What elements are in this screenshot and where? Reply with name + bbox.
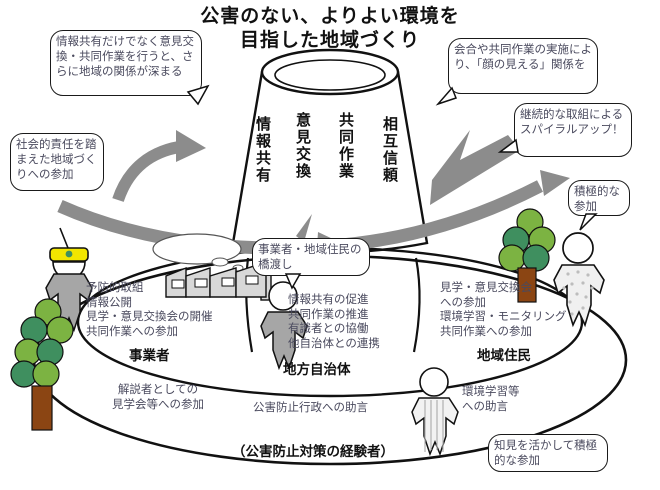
expert-person-icon [412, 368, 458, 454]
sector-business-item-1: 情報公開 [86, 295, 213, 310]
cone-label-information-sharing: 情報共有 [255, 116, 270, 184]
callout-active-participation: 積極的な参加 [568, 180, 630, 216]
sector-residents-item-1: への参加 [440, 295, 567, 310]
sector-residents-items: 見学・意見交換会 への参加 環境学習・モニタリング 共同作業への参加 [440, 280, 567, 339]
callout-social-responsibility: 社会的責任を踏まえた地域づくりへの参加 [10, 133, 104, 191]
expert-right-note-1: への助言 [462, 399, 520, 414]
sector-business-item-2: 見学・意見交換会の開催 [86, 309, 213, 324]
sector-residents-name: 地域住民 [477, 344, 531, 364]
sector-localgov-item-0: 情報共有の促進 [288, 292, 380, 307]
diagram-canvas: 公害のない、よりよい環境を 目指した地域づくり [0, 0, 660, 490]
callout-top-right: 会合や共同作業の実施により、「顔の見える」関係を [448, 38, 598, 94]
expert-right-note-0: 環境学習等 [462, 384, 520, 399]
tree-icon [11, 299, 73, 430]
sector-localgov-item-3: 他自治体との連携 [288, 336, 380, 351]
sector-residents-item-0: 見学・意見交換会 [440, 280, 567, 295]
sector-business-items: 予防的取組 情報公開 見学・意見交換会の開催 共同作業への参加 [86, 280, 213, 339]
sector-localgov-item-1: 共同作業の推進 [288, 307, 380, 322]
expert-left-note-0: 解説者としての [112, 382, 204, 397]
cone-label-mutual-trust: 相互信頼 [382, 116, 397, 184]
expert-left-note: 解説者としての 見学会等への参加 [112, 382, 204, 412]
expert-center-note: 公害防止行政への助言 [253, 400, 368, 415]
sector-residents-item-2: 環境学習・モニタリング [440, 309, 567, 324]
sector-business-item-0: 予防的取組 [86, 280, 213, 295]
callout-top-left: 情報共有だけでなく意見交換・共同作業を行うと、さらに地域の関係が深まる [50, 30, 202, 96]
expert-left-note-1: 見学会等への参加 [112, 397, 204, 412]
sector-residents-item-3: 共同作業への参加 [440, 324, 567, 339]
sector-business-item-3: 共同作業への参加 [86, 324, 213, 339]
expert-right-note: 環境学習等 への助言 [462, 384, 520, 414]
sector-expert-name: （公害防止対策の経験者） [232, 440, 394, 460]
sector-localgov-items: 情報共有の促進 共同作業の推進 有識者との協働 他自治体との連携 [288, 292, 380, 351]
callout-spiral-up: 継続的な取組によるスパイラルアップ！ [514, 103, 632, 157]
smoke-cloud-icon [153, 234, 243, 271]
callout-knowledge-participation: 知見を活かして積極的な参加 [488, 434, 608, 472]
sector-localgov-item-2: 有識者との協働 [288, 321, 380, 336]
sector-business-name: 事業者 [129, 344, 170, 364]
cone-label-opinion-exchange: 意見交換 [295, 112, 310, 180]
callout-bridge: 事業者・地域住民の橋渡し [252, 238, 370, 276]
cone-label-joint-work: 共同作業 [338, 112, 353, 180]
sector-localgov-name: 地方自治体 [283, 358, 351, 378]
